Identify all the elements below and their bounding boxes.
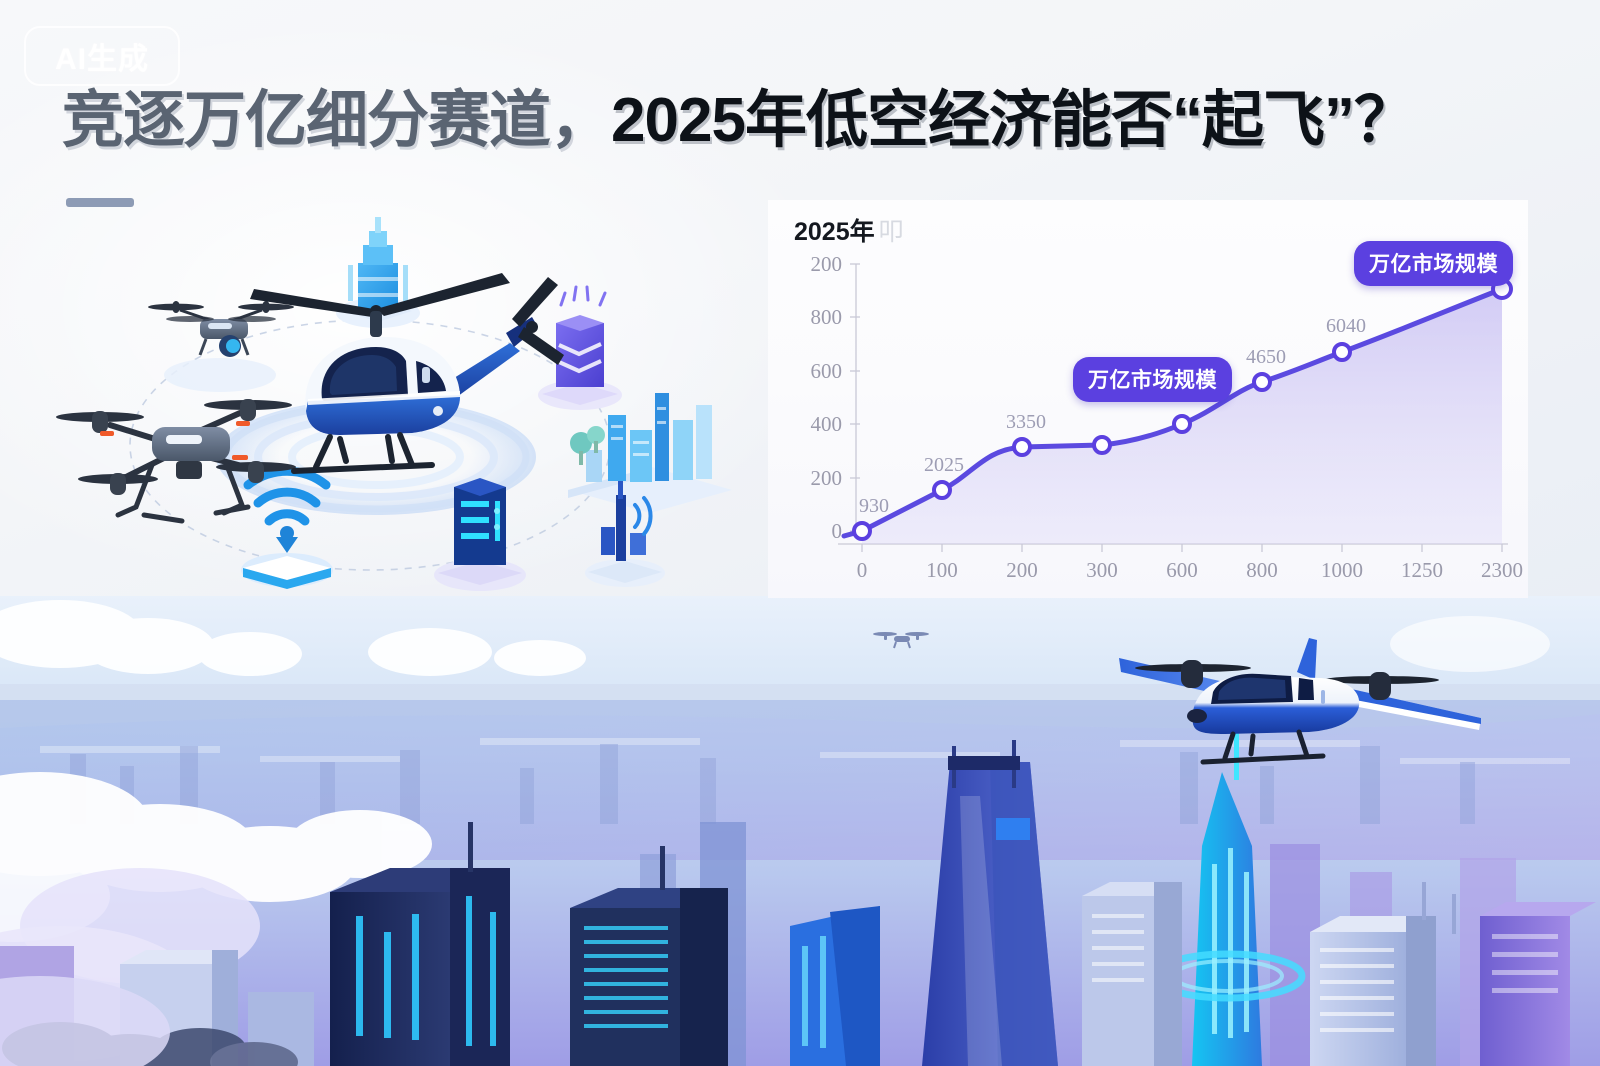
poster-root: AI生成 竞逐万亿细分赛道，2025年低空经济能否“起飞”？ [0, 0, 1600, 1066]
badge-market-size-inline: 万亿市场规模 [1073, 357, 1232, 402]
page-title: 竞逐万亿细分赛道，2025年低空经济能否“起飞”？ [62, 88, 1415, 153]
y-axis-labels: 200 800 600 400 200 0 [811, 252, 843, 543]
low-altitude-economy-illustration [40, 215, 740, 600]
y-label-600: 600 [811, 359, 843, 383]
data-point-3 [1094, 437, 1110, 453]
y-label-400: 400 [811, 412, 843, 436]
x-label-800: 800 [1246, 558, 1278, 582]
point-label-2025: 2025 [924, 454, 964, 476]
point-label-3350: 3350 [1006, 411, 1046, 433]
page-title-part1: 竞逐万亿细分赛道， [62, 86, 611, 155]
quadcopter-drone-small [148, 301, 294, 392]
data-point-1 [934, 482, 950, 498]
x-label-100: 100 [926, 558, 958, 582]
y-label-800: 800 [811, 305, 843, 329]
y-label-0: 0 [832, 519, 843, 543]
point-label-930: 930 [859, 495, 889, 517]
x-label-1000: 1000 [1321, 558, 1363, 582]
data-point-4 [1174, 416, 1190, 432]
x-label-0: 0 [857, 558, 868, 582]
evtol-aircraft [1085, 606, 1495, 776]
y-label-top: 200 [811, 252, 843, 276]
city-skyline-icon [568, 393, 732, 513]
data-point-0 [854, 523, 870, 539]
page-title-part2: 2025年低空经济能否“起飞”？ [611, 86, 1415, 155]
ai-generated-watermark: AI生成 [24, 26, 180, 86]
y-label-200: 200 [811, 466, 843, 490]
x-label-300: 300 [1086, 558, 1118, 582]
x-axis-labels: 0 100 200 300 600 800 1000 1250 2300 [857, 558, 1523, 582]
x-label-600: 600 [1166, 558, 1198, 582]
data-point-6 [1334, 344, 1350, 360]
distant-drone-icon [872, 626, 932, 654]
badge-market-size-top: 万亿市场规模 [1354, 241, 1513, 286]
point-label-4650: 4650 [1246, 346, 1286, 368]
market-size-chart-card: 2025年叩 [768, 200, 1528, 598]
data-point-5 [1254, 374, 1270, 390]
x-axis-ticks [862, 544, 1502, 552]
y-axis-ticks [850, 264, 860, 531]
title-underline-rule [66, 198, 134, 207]
x-label-200: 200 [1006, 558, 1038, 582]
x-label-1250: 1250 [1401, 558, 1443, 582]
x-label-2300: 2300 [1481, 558, 1523, 582]
point-label-6040: 6040 [1326, 315, 1366, 337]
data-point-2 [1014, 439, 1030, 455]
